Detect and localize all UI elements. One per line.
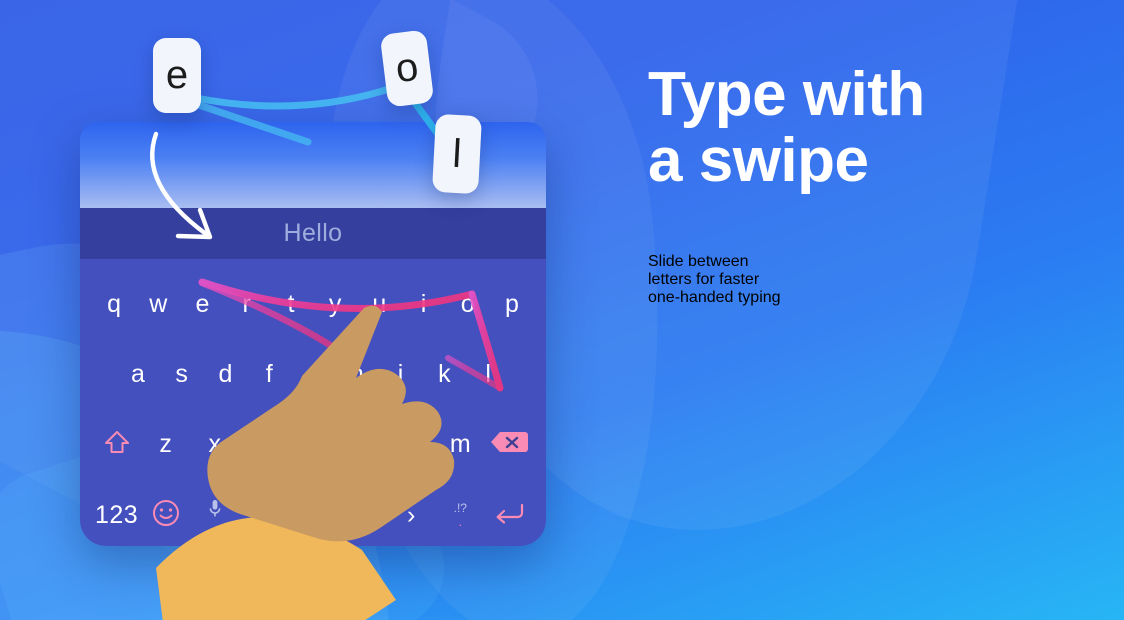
headline: Type with a swipe — [648, 62, 1068, 195]
key-s[interactable]: s — [160, 362, 204, 387]
shift-icon — [104, 430, 130, 454]
backspace-icon — [489, 430, 529, 454]
key-b[interactable]: b — [338, 432, 387, 457]
subcopy-line-1: Slide between — [648, 253, 1068, 271]
suggestion-text[interactable]: Hello — [284, 219, 343, 248]
subcopy-line-3: one-handed typing — [648, 289, 1068, 307]
shift-key[interactable] — [92, 430, 141, 459]
floating-tile-o-label: o — [393, 45, 421, 92]
key-m[interactable]: m — [436, 432, 485, 457]
punctuation-key[interactable]: .!? . — [436, 502, 485, 528]
keyboard-row-1: q w e r t y u i o p — [80, 287, 546, 321]
emoji-icon — [152, 499, 180, 527]
key-n[interactable]: n — [387, 432, 436, 457]
key-g[interactable]: g — [291, 362, 335, 387]
keyboard-row-2: a s d f g h j k l — [80, 357, 546, 391]
key-z[interactable]: z — [141, 432, 190, 457]
headline-line-1: Type with — [648, 60, 925, 129]
key-p[interactable]: p — [490, 292, 534, 317]
emoji-key[interactable] — [141, 499, 190, 532]
right-arrow-key[interactable]: › — [387, 503, 436, 528]
key-a[interactable]: a — [116, 362, 160, 387]
mic-icon — [208, 499, 222, 519]
floating-tile-e[interactable]: e — [153, 38, 201, 113]
key-c[interactable]: c — [239, 432, 288, 457]
key-v[interactable]: v — [288, 432, 337, 457]
key-i[interactable]: i — [401, 292, 445, 317]
mic-comma-key[interactable]: , — [190, 499, 239, 531]
key-f[interactable]: f — [247, 362, 291, 387]
key-r[interactable]: r — [225, 292, 269, 317]
keyboard-row-4: 123 — [80, 497, 546, 533]
suggestion-bar: Hello — [80, 208, 546, 259]
subcopy-line-2: letters for faster — [648, 271, 1068, 289]
key-j[interactable]: j — [379, 362, 423, 387]
keyboard-row-3: z x c v b n m — [80, 427, 546, 461]
key-u[interactable]: u — [357, 292, 401, 317]
key-o[interactable]: o — [446, 292, 490, 317]
comma-label: , — [213, 519, 216, 531]
key-w[interactable]: w — [136, 292, 180, 317]
key-l[interactable]: l — [466, 362, 510, 387]
key-e[interactable]: e — [180, 292, 224, 317]
key-q[interactable]: q — [92, 292, 136, 317]
copy-block: Type with a swipe Slide between letters … — [648, 62, 1068, 323]
key-h[interactable]: h — [335, 362, 379, 387]
backspace-key[interactable] — [485, 430, 534, 459]
key-k[interactable]: k — [422, 362, 466, 387]
key-d[interactable]: d — [204, 362, 248, 387]
floating-tile-o[interactable]: o — [380, 29, 435, 107]
enter-key[interactable] — [485, 501, 534, 530]
keyboard: q w e r t y u i o p a s d f g h j k — [80, 259, 546, 546]
floating-tile-l-label: l — [451, 131, 462, 176]
punctuation-label: .!? — [454, 502, 467, 514]
key-x[interactable]: x — [190, 432, 239, 457]
left-arrow-key[interactable]: ‹ — [239, 503, 288, 528]
key-y[interactable]: y — [313, 292, 357, 317]
key-t[interactable]: t — [269, 292, 313, 317]
promo-banner: Hello q w e r t y u i o p a s d f — [0, 0, 1124, 620]
floating-tile-e-label: e — [166, 53, 188, 98]
numbers-key[interactable]: 123 — [92, 503, 141, 528]
period-label: . — [459, 516, 462, 528]
enter-icon — [493, 501, 525, 525]
floating-tile-l[interactable]: l — [432, 114, 482, 194]
headline-line-2: a swipe — [648, 126, 869, 195]
